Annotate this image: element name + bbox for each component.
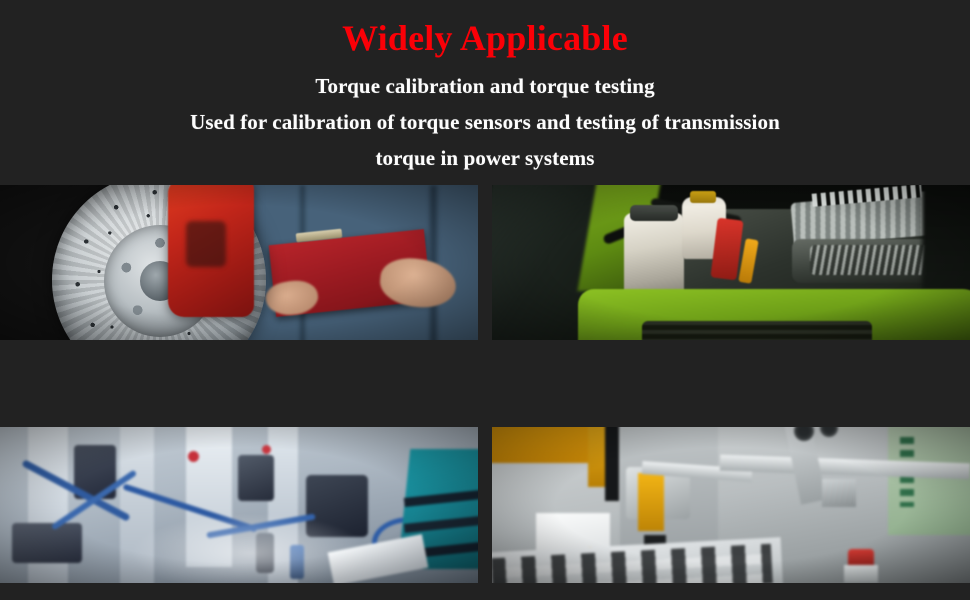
robot-gripper [822,479,856,507]
photo-assembly-line [0,427,478,583]
subtitle-line-1: Torque calibration and torque testing [0,59,970,104]
black-frame-post [605,427,619,501]
header-text-block: Widely Applicable Torque calibration and… [0,0,970,185]
yellow-guard-mid [638,473,664,531]
photo-brake-disc-mechanic [0,185,478,340]
indicator-light-2 [262,445,271,454]
widely-applicable-banner: Widely Applicable Torque calibration and… [0,0,970,600]
indicator-light-1 [188,451,199,462]
caliper-slot [186,221,226,267]
photo-cnc-gantry [492,427,970,583]
photo-gallery [0,185,970,583]
actuator-block-2 [238,455,274,501]
yellow-frame-top [492,427,594,463]
actuator-block-4 [12,523,82,563]
knob-mount-base [844,565,878,583]
reservoir-cap [630,205,678,221]
page-title: Widely Applicable [0,0,970,59]
subtitle-line-3: torque in power systems [0,140,970,176]
subtitle-line-2: Used for calibration of torque sensors a… [0,104,970,140]
photo-engine-bay [492,185,970,340]
washer-bottle-cap [690,191,716,203]
engine-bay-shadow-right [922,185,970,291]
front-grille [642,321,872,340]
coolant-reservoir [624,213,684,299]
overhead-light-glow [130,513,370,583]
